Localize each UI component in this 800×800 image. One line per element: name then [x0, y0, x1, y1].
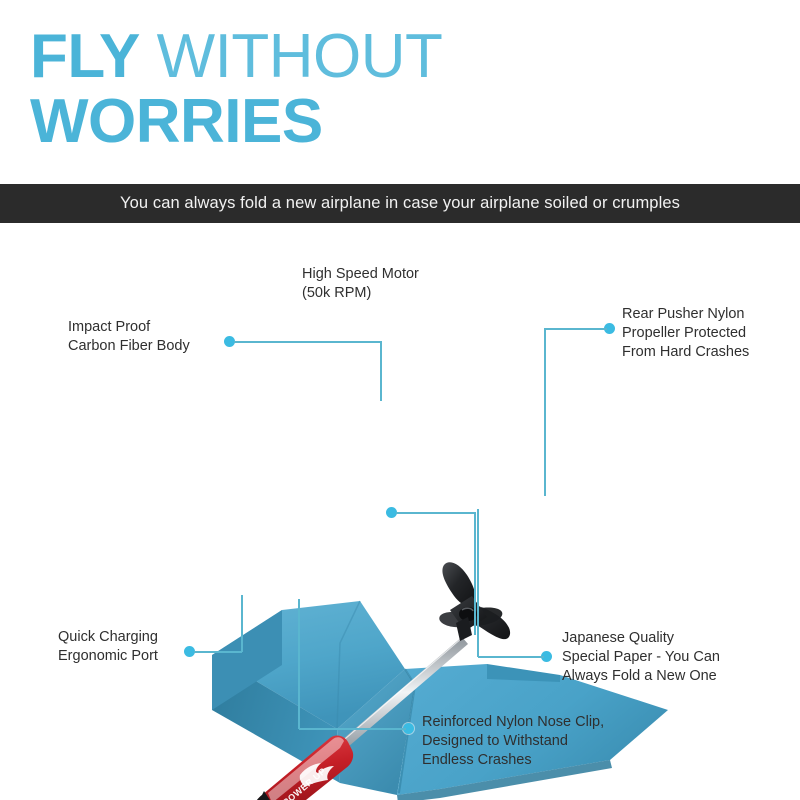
motor-mount — [456, 617, 472, 641]
battery-body — [258, 735, 354, 800]
battery-module: POWER UP — [248, 735, 353, 800]
propeller-blade-left — [439, 612, 471, 627]
callout-lead-high-speed-motor-v — [474, 512, 476, 635]
callout-lead-rear-pusher-propeller-h — [545, 328, 607, 330]
battery-highlight — [268, 737, 344, 800]
callout-lead-quick-charging-port-h — [194, 651, 242, 653]
callout-lead-rear-pusher-propeller-v — [544, 328, 546, 496]
motor-can — [450, 596, 487, 631]
title-line-2: WORRIES — [30, 93, 770, 152]
propeller-blade-right — [462, 607, 503, 625]
plane-left-wing-fold — [212, 655, 340, 783]
propeller-blade-upper — [442, 562, 475, 605]
callout-lead-japanese-quality-paper-h — [478, 656, 544, 658]
title-word-without: WITHOUT — [157, 22, 443, 91]
motor-highlight — [462, 608, 473, 611]
title-word-fly: FLY — [30, 22, 140, 91]
subtitle-text: You can always fold a new airplane in ca… — [120, 194, 680, 213]
callout-label-reinforced-nose-clip: Reinforced Nylon Nose Clip, Designed to … — [422, 713, 652, 770]
title-line-1: FLY WITHOUT — [30, 28, 770, 87]
callout-lead-reinforced-nose-clip-h — [299, 728, 406, 730]
callout-label-japanese-quality-paper: Japanese Quality Special Paper - You Can… — [562, 629, 762, 686]
product-stage: POWER UP High Speed Motor (50k RPM) Impa… — [0, 223, 800, 800]
product-feature-infographic: FLY WITHOUT WORRIES You can always fold … — [0, 0, 800, 800]
subtitle-bar: You can always fold a new airplane in ca… — [0, 184, 800, 223]
callout-lead-quick-charging-port-v — [241, 595, 243, 652]
title-word-worries: WORRIES — [30, 87, 323, 156]
nose-clip — [252, 791, 281, 800]
callout-lead-impact-proof-body-v — [380, 341, 382, 401]
callout-label-high-speed-motor: High Speed Motor (50k RPM) — [302, 265, 482, 303]
battery-wordmark: POWER UP — [281, 766, 328, 800]
battery-flame-graphic — [300, 763, 334, 787]
callout-label-rear-pusher-propeller: Rear Pusher Nylon Propeller Protected Fr… — [622, 305, 800, 362]
callout-lead-reinforced-nose-clip-v — [298, 599, 300, 729]
callout-lead-high-speed-motor-h — [396, 512, 475, 514]
callout-label-quick-charging-port: Quick Charging Ergonomic Port — [58, 628, 233, 666]
nose-clip-cap — [248, 796, 276, 800]
plane-right-wing-step — [487, 664, 560, 682]
callout-lead-impact-proof-body-h — [234, 341, 381, 343]
callout-lead-japanese-quality-paper-v — [477, 509, 479, 657]
page-title: FLY WITHOUT WORRIES — [30, 28, 770, 152]
plane-left-crease — [337, 601, 360, 729]
